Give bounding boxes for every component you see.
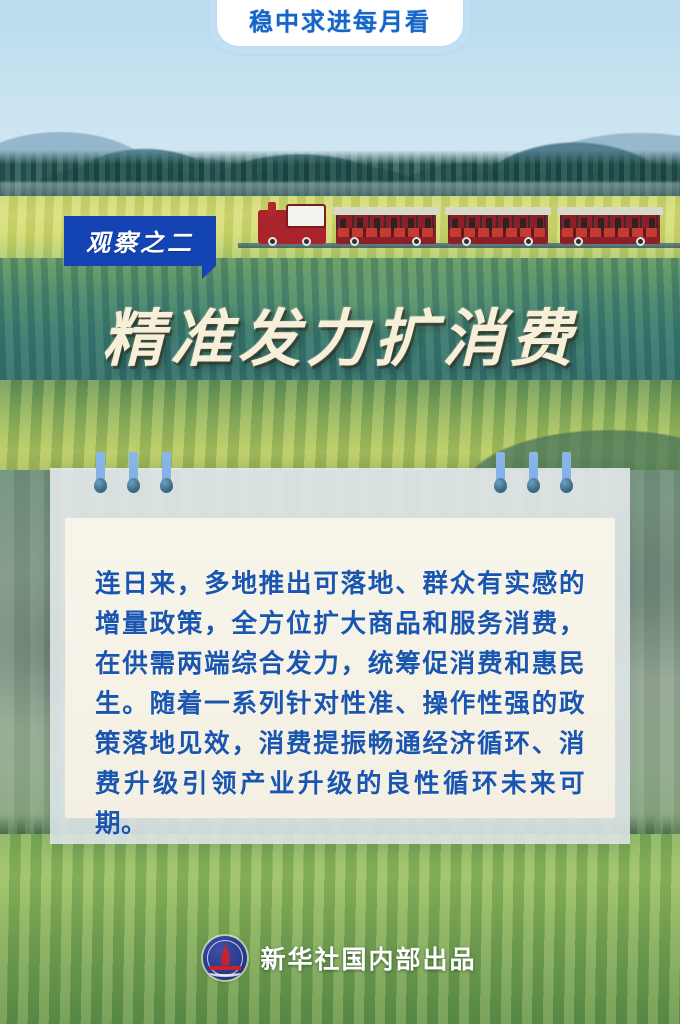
main-title-wrapper: 精准发力扩消费: [0, 288, 680, 378]
wheel: [636, 237, 645, 246]
pin-knob-icon: [527, 478, 540, 493]
wheel: [574, 237, 583, 246]
section-tag-wrapper: 观察之二: [64, 216, 216, 266]
xinhua-agency-logo-icon: [203, 936, 247, 980]
top-series-badge[interactable]: 稳中求进每月看: [217, 0, 463, 46]
sightseeing-train: [258, 200, 668, 248]
pin-knob-icon: [494, 478, 507, 493]
content-card: 连日来，多地推出可落地、群众有实感的增量政策，全方位扩大商品和服务消费，在供需两…: [50, 468, 630, 844]
carriage-roof: [333, 207, 439, 215]
pin-knob-icon: [94, 478, 107, 493]
train-locomotive: [258, 210, 326, 244]
wheel: [524, 237, 533, 246]
rapeseed-field-lower: [0, 834, 680, 1024]
train-carriage: [336, 214, 436, 244]
wheel: [462, 237, 471, 246]
footer-credit-text: 新华社国内部出品: [260, 940, 476, 976]
wheel: [350, 237, 359, 246]
carriage-roof: [557, 207, 663, 215]
footer: 新华社国内部出品: [0, 936, 680, 980]
carriage-seats: [338, 228, 434, 237]
pin-knob-icon: [560, 478, 573, 493]
logo-text-arc: [207, 967, 243, 977]
carriage-roof: [445, 207, 551, 215]
wheel: [268, 237, 277, 246]
content-card-panel: 连日来，多地推出可落地、群众有实感的增量政策，全方位扩大商品和服务消费，在供需两…: [65, 518, 615, 818]
pin-knob-icon: [127, 478, 140, 493]
page-title: 精准发力扩消费: [102, 288, 578, 378]
wheel: [412, 237, 421, 246]
poster-root: 稳中求进每月看 观察之二 精准发力扩消费: [0, 0, 680, 1024]
section-tag[interactable]: 观察之二: [64, 216, 216, 266]
train-carriage: [560, 214, 660, 244]
top-series-badge-label: 稳中求进每月看: [249, 2, 431, 37]
locomotive-cab: [286, 204, 326, 228]
article-body-text: 连日来，多地推出可落地、群众有实感的增量政策，全方位扩大商品和服务消费，在供需两…: [65, 518, 615, 844]
locomotive-smokestack: [268, 202, 276, 216]
carriage-seats: [450, 228, 546, 237]
wheel: [302, 237, 311, 246]
train-carriage: [448, 214, 548, 244]
carriage-seats: [562, 228, 658, 237]
section-tag-tail-icon: [202, 266, 216, 279]
section-tag-label: 观察之二: [86, 231, 194, 257]
pin-knob-icon: [160, 478, 173, 493]
